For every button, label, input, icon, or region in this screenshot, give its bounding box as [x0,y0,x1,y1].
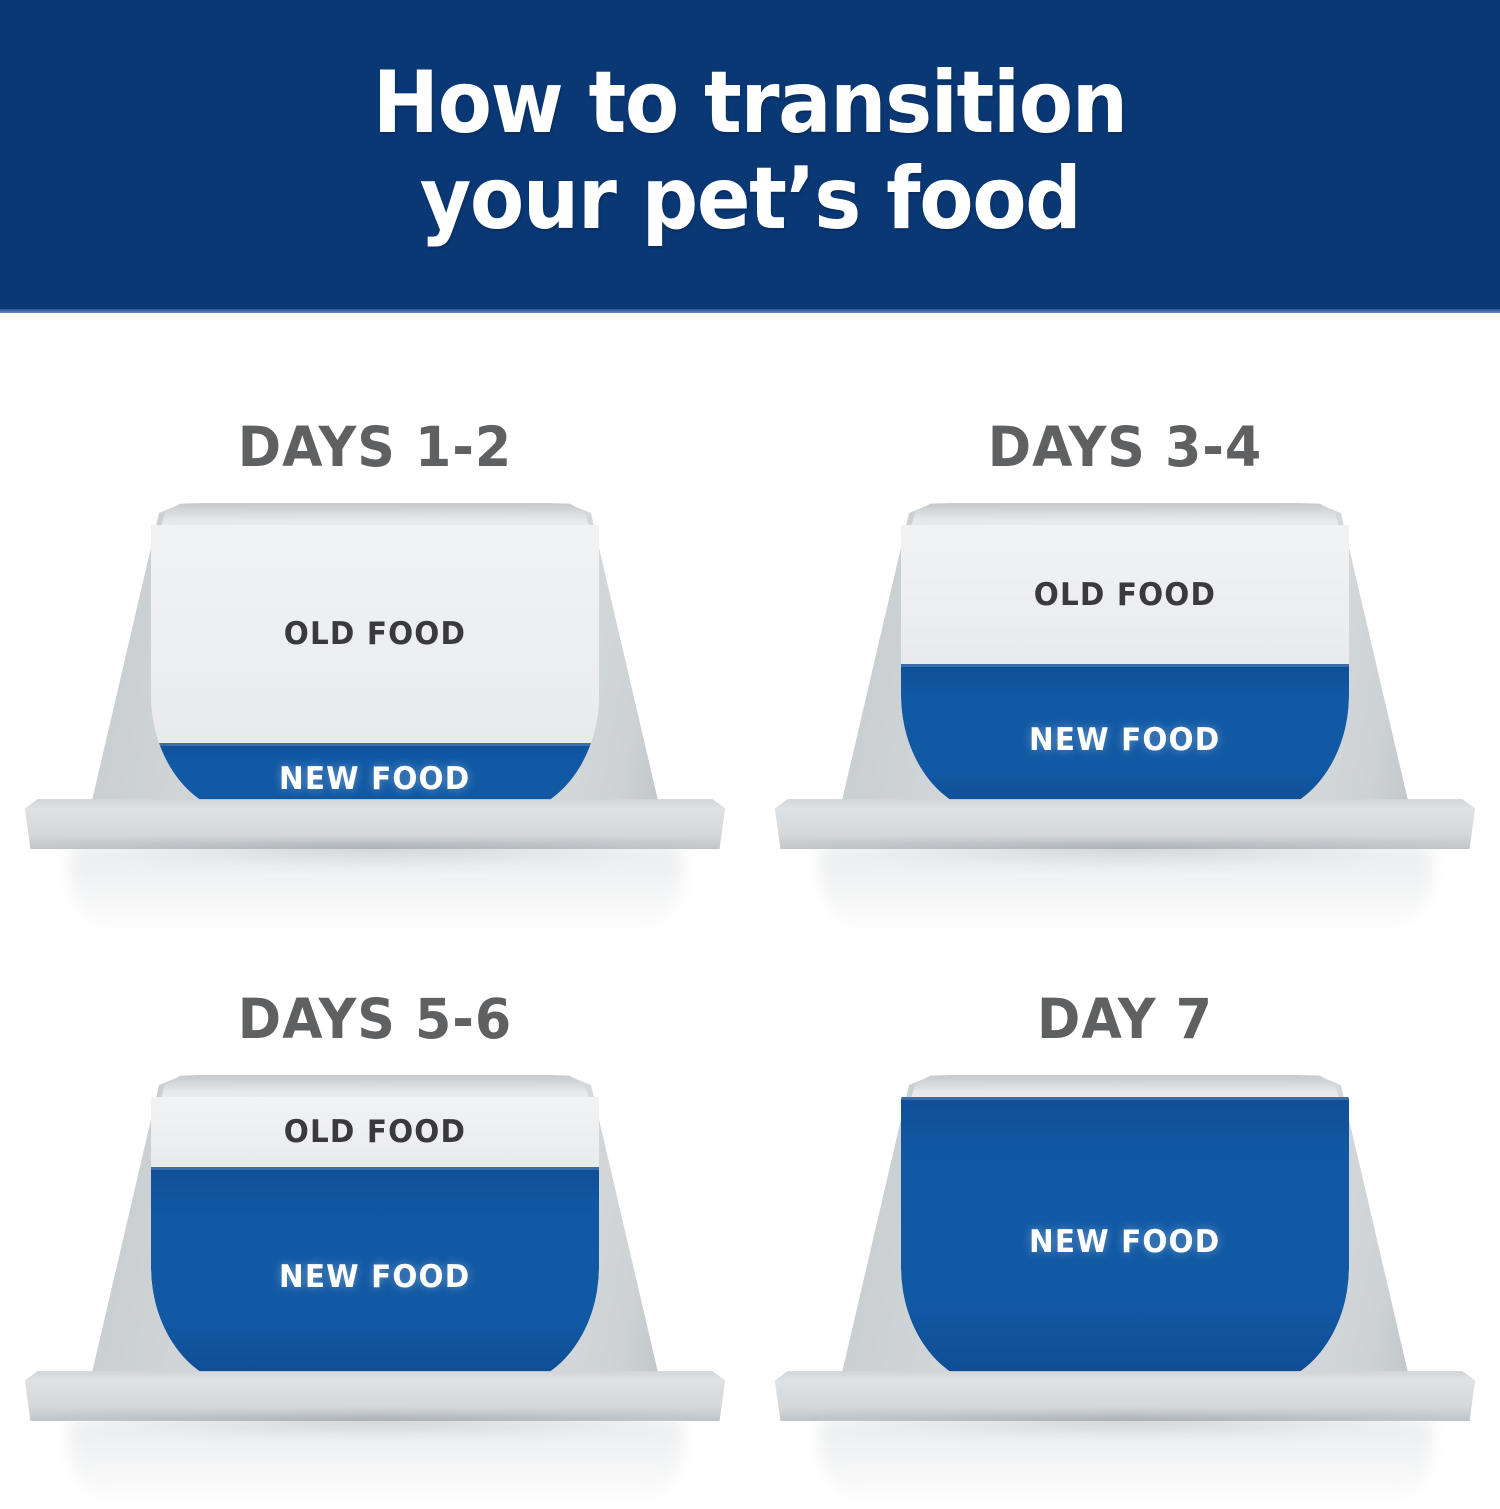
step-label-day-7: DAY 7 [769,987,1482,1051]
bowl-base [22,1369,728,1421]
transition-steps-grid: DAYS 1-2 OLD FOOD NEW FOOD DAYS 3 [0,313,1500,1500]
bowl-base [22,797,728,849]
bowl-food-well: OLD FOOD NEW FOOD [151,525,599,815]
infographic-page: How to transition your pet’s food DAYS 1… [0,0,1500,1500]
bowl-food-well: OLD FOOD NEW FOOD [151,1097,599,1387]
food-bowl-days-3-4: OLD FOOD NEW FOOD [772,503,1478,873]
page-title-line-2: your pet’s food [420,151,1081,247]
food-bowl-days-1-2: OLD FOOD NEW FOOD [22,503,728,873]
step-card-days-5-6: DAYS 5-6 OLD FOOD NEW FOOD [0,885,750,1479]
old-food-layer: OLD FOOD [901,525,1349,664]
bowl-reflection [820,1423,1432,1509]
old-food-label: OLD FOOD [1034,577,1216,613]
old-food-label: OLD FOOD [284,616,466,652]
old-food-label: OLD FOOD [284,1114,466,1150]
old-food-layer: OLD FOOD [151,525,599,743]
new-food-layer: NEW FOOD [901,1097,1349,1387]
step-label-days-5-6: DAYS 5-6 [19,987,732,1051]
header-banner: How to transition your pet’s food [0,0,1500,313]
old-food-layer: OLD FOOD [151,1097,599,1167]
new-food-layer: NEW FOOD [901,664,1349,815]
new-food-label: NEW FOOD [1029,1224,1220,1260]
food-bowl-day-7: NEW FOOD [772,1075,1478,1445]
page-title-line-1: How to transition [373,55,1127,151]
new-food-label: NEW FOOD [279,1259,470,1295]
new-food-label: NEW FOOD [1029,722,1220,758]
step-card-day-7: DAY 7 NEW FOOD [750,885,1500,1479]
step-card-days-3-4: DAYS 3-4 OLD FOOD NEW FOOD [750,313,1500,907]
bowl-base [772,797,1478,849]
new-food-layer: NEW FOOD [151,1167,599,1387]
bowl-reflection [70,1423,682,1509]
bowl-base [772,1369,1478,1421]
step-label-days-3-4: DAYS 3-4 [769,415,1482,479]
bowl-food-well: OLD FOOD NEW FOOD [901,525,1349,815]
bowl-food-well: NEW FOOD [901,1097,1349,1387]
step-card-days-1-2: DAYS 1-2 OLD FOOD NEW FOOD [0,313,750,907]
step-label-days-1-2: DAYS 1-2 [19,415,732,479]
food-bowl-days-5-6: OLD FOOD NEW FOOD [22,1075,728,1445]
new-food-label: NEW FOOD [279,761,470,797]
